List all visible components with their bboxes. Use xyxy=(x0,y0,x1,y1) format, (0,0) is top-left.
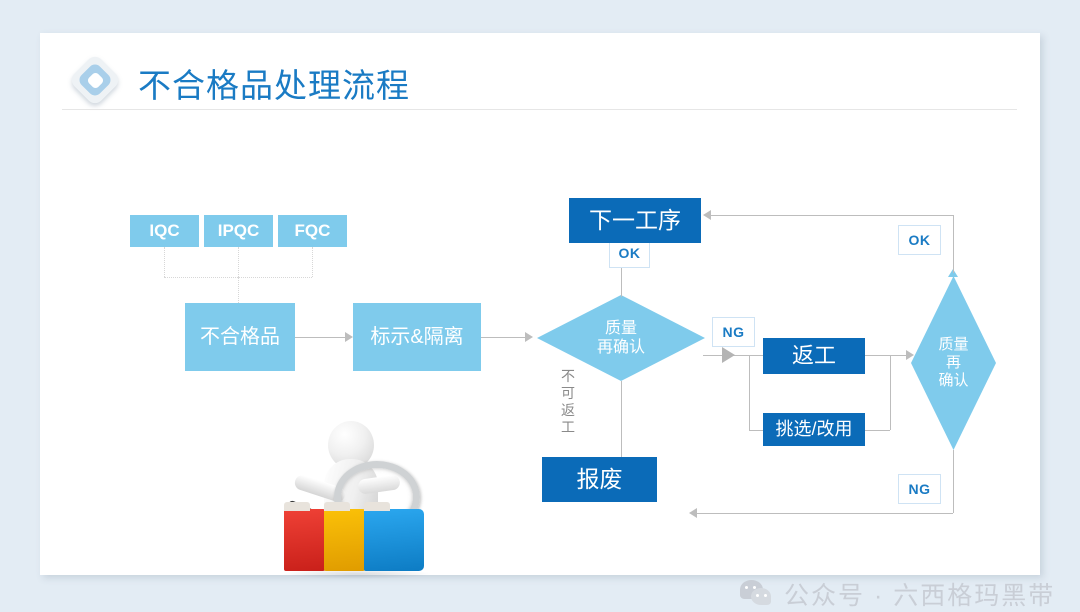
node-quality-recheck-2[interactable]: 质量 再 确认 xyxy=(911,276,996,450)
node-quality-recheck-1-line1: 质量 xyxy=(597,319,645,338)
dotted-drop-ipqc xyxy=(238,247,239,277)
edge-recheck2-ng-across xyxy=(697,513,953,514)
node-scrap[interactable]: 报废 xyxy=(542,457,657,502)
edge-label-ok-right: OK xyxy=(898,225,941,255)
edge-select-out xyxy=(865,430,890,431)
edge-ng-to-rework xyxy=(749,355,763,356)
edge-label-ok-right-text: OK xyxy=(909,232,931,248)
edge-label-no-rework-c4: 工 xyxy=(559,419,577,436)
node-quality-recheck-2-line1: 质量 xyxy=(938,336,968,354)
edge-label-no-rework: 不 可 返 工 xyxy=(559,368,577,436)
node-mark-isolate[interactable]: 标示&隔离 xyxy=(353,303,481,371)
edge-label-ng-left: NG xyxy=(712,317,755,347)
wechat-icon xyxy=(740,580,774,608)
dotted-drop-fqc xyxy=(312,247,313,277)
diamond-logo-icon xyxy=(68,53,124,109)
folder-red-icon xyxy=(284,509,328,571)
node-quality-recheck-1-line2: 再确认 xyxy=(597,338,645,357)
node-select-reuse[interactable]: 挑选/改用 xyxy=(763,413,865,446)
node-ipqc[interactable]: IPQC xyxy=(204,215,273,247)
node-defective-product[interactable]: 不合格品 xyxy=(185,303,295,371)
edge-label-no-rework-c1: 不 xyxy=(559,368,577,385)
node-mark-isolate-label: 标示&隔离 xyxy=(370,326,463,349)
slide-canvas: 不合格品处理流程 IQC IPQC FQC 不合格品 标示&隔离 xyxy=(0,0,1080,608)
edge-recheck2-ng-down xyxy=(953,450,954,513)
node-scrap-label: 报废 xyxy=(577,466,623,492)
node-fqc[interactable]: FQC xyxy=(278,215,347,247)
edge-label-no-rework-c3: 返 xyxy=(559,402,577,419)
node-rework-label: 返工 xyxy=(792,343,836,368)
edge-label-ng-right: NG xyxy=(898,474,941,504)
edge-recheck2-ng-into-scrap xyxy=(689,508,697,518)
edge-label-ng-right-text: NG xyxy=(909,481,931,497)
edge-recheck2-ok-up xyxy=(953,215,954,273)
edge-ng-branch-bus xyxy=(749,355,750,430)
node-ipqc-label: IPQC xyxy=(218,221,260,241)
edge-mark-to-recheck1-arrow xyxy=(525,332,533,342)
node-fqc-label: FQC xyxy=(295,221,331,241)
edge-label-ok-left-text: OK xyxy=(619,245,641,261)
header-divider xyxy=(62,109,1017,110)
node-iqc[interactable]: IQC xyxy=(130,215,199,247)
dotted-bus-to-defective xyxy=(238,277,239,303)
folder-yellow-icon xyxy=(324,509,368,571)
node-defective-product-label: 不合格品 xyxy=(200,326,280,349)
edge-defective-to-mark xyxy=(295,337,345,338)
node-quality-recheck-2-line3: 确认 xyxy=(938,372,968,390)
node-next-process-label: 下一工序 xyxy=(589,207,681,233)
illustration-person-with-magnifier xyxy=(272,415,432,575)
edge-recheck2-ok-across xyxy=(711,215,953,216)
edge-ng-to-select xyxy=(749,430,763,431)
edge-label-ng-left-text: NG xyxy=(723,324,745,340)
edge-recheck1-ng-arrow xyxy=(722,347,735,363)
edge-merge-bus xyxy=(890,355,891,430)
node-rework[interactable]: 返工 xyxy=(763,338,865,374)
folder-blue-icon xyxy=(364,509,424,571)
edge-recheck2-ok-into-next xyxy=(703,210,711,220)
edge-label-no-rework-c2: 可 xyxy=(559,385,577,402)
dotted-drop-iqc xyxy=(164,247,165,277)
page-title: 不合格品处理流程 xyxy=(138,59,410,107)
edge-mark-to-recheck1 xyxy=(481,337,525,338)
edge-rework-out xyxy=(865,355,890,356)
watermark: 公众号 · 六西格玛黑带 xyxy=(740,576,1055,612)
node-next-process[interactable]: 下一工序 xyxy=(569,198,701,243)
watermark-text: 公众号 · 六西格玛黑带 xyxy=(784,576,1055,612)
edge-defective-to-mark-arrow xyxy=(345,332,353,342)
slide-card: 不合格品处理流程 IQC IPQC FQC 不合格品 标示&隔离 xyxy=(40,33,1040,575)
node-select-reuse-label: 挑选/改用 xyxy=(775,419,852,440)
node-iqc-label: IQC xyxy=(149,221,179,241)
node-quality-recheck-2-line2: 再 xyxy=(938,354,968,372)
